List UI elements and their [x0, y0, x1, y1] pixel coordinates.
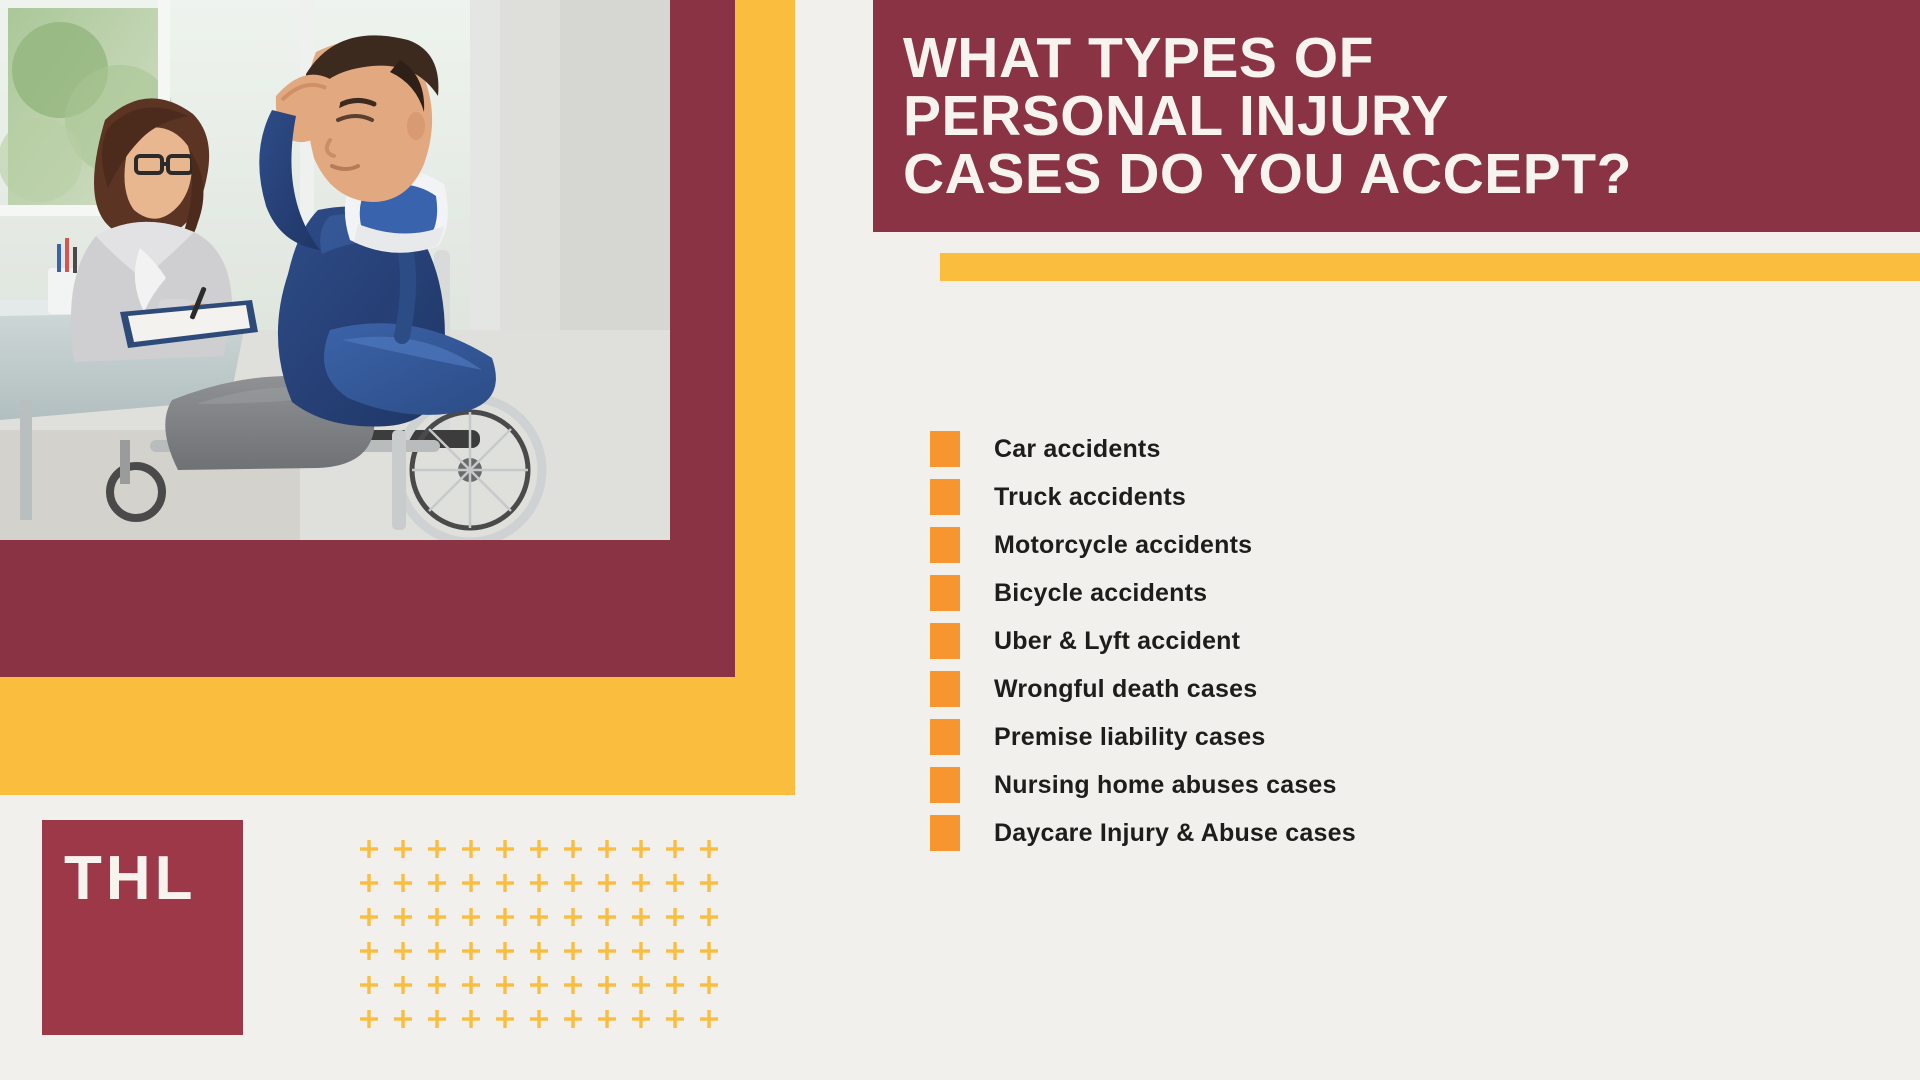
photo-frame-yellow-horizontal-bar: [0, 677, 795, 795]
infographic-canvas: WHAT TYPES OF PERSONAL INJURY CASES DO Y…: [0, 0, 1920, 1080]
thl-logo[interactable]: THL: [42, 820, 243, 1035]
square-bullet-icon: [930, 623, 960, 659]
case-type-item: Wrongful death cases: [930, 665, 1630, 713]
page-title-panel: WHAT TYPES OF PERSONAL INJURY CASES DO Y…: [873, 0, 1920, 232]
case-type-label: Car accidents: [994, 435, 1161, 464]
case-type-label: Premise liability cases: [994, 723, 1265, 752]
square-bullet-icon: [930, 767, 960, 803]
square-bullet-icon: [930, 671, 960, 707]
square-bullet-icon: [930, 527, 960, 563]
plus-pattern-decoration: [352, 832, 722, 1047]
case-type-label: Bicycle accidents: [994, 579, 1207, 608]
square-bullet-icon: [930, 479, 960, 515]
case-type-label: Daycare Injury & Abuse cases: [994, 819, 1356, 848]
case-type-label: Motorcycle accidents: [994, 531, 1252, 560]
thl-logo-text: THL: [42, 820, 243, 910]
title-accent-bar: [940, 253, 1920, 281]
square-bullet-icon: [930, 575, 960, 611]
case-type-item: Uber & Lyft accident: [930, 617, 1630, 665]
consultation-photo: [0, 0, 670, 540]
case-type-item: Bicycle accidents: [930, 569, 1630, 617]
case-type-item: Daycare Injury & Abuse cases: [930, 809, 1630, 857]
case-type-item: Truck accidents: [930, 473, 1630, 521]
square-bullet-icon: [930, 815, 960, 851]
page-title: WHAT TYPES OF PERSONAL INJURY CASES DO Y…: [873, 29, 1632, 203]
case-type-item: Premise liability cases: [930, 713, 1630, 761]
case-type-label: Nursing home abuses cases: [994, 771, 1337, 800]
square-bullet-icon: [930, 719, 960, 755]
photo-frame-yellow-vertical-bar: [735, 0, 795, 677]
photo-frame-cream-gap: [795, 0, 873, 795]
case-type-item: Motorcycle accidents: [930, 521, 1630, 569]
square-bullet-icon: [930, 431, 960, 467]
case-type-item: Nursing home abuses cases: [930, 761, 1630, 809]
case-type-label: Truck accidents: [994, 483, 1186, 512]
case-type-item: Car accidents: [930, 425, 1630, 473]
case-types-list: Car accidentsTruck accidentsMotorcycle a…: [930, 425, 1630, 857]
case-type-label: Wrongful death cases: [994, 675, 1257, 704]
case-type-label: Uber & Lyft accident: [994, 627, 1240, 656]
